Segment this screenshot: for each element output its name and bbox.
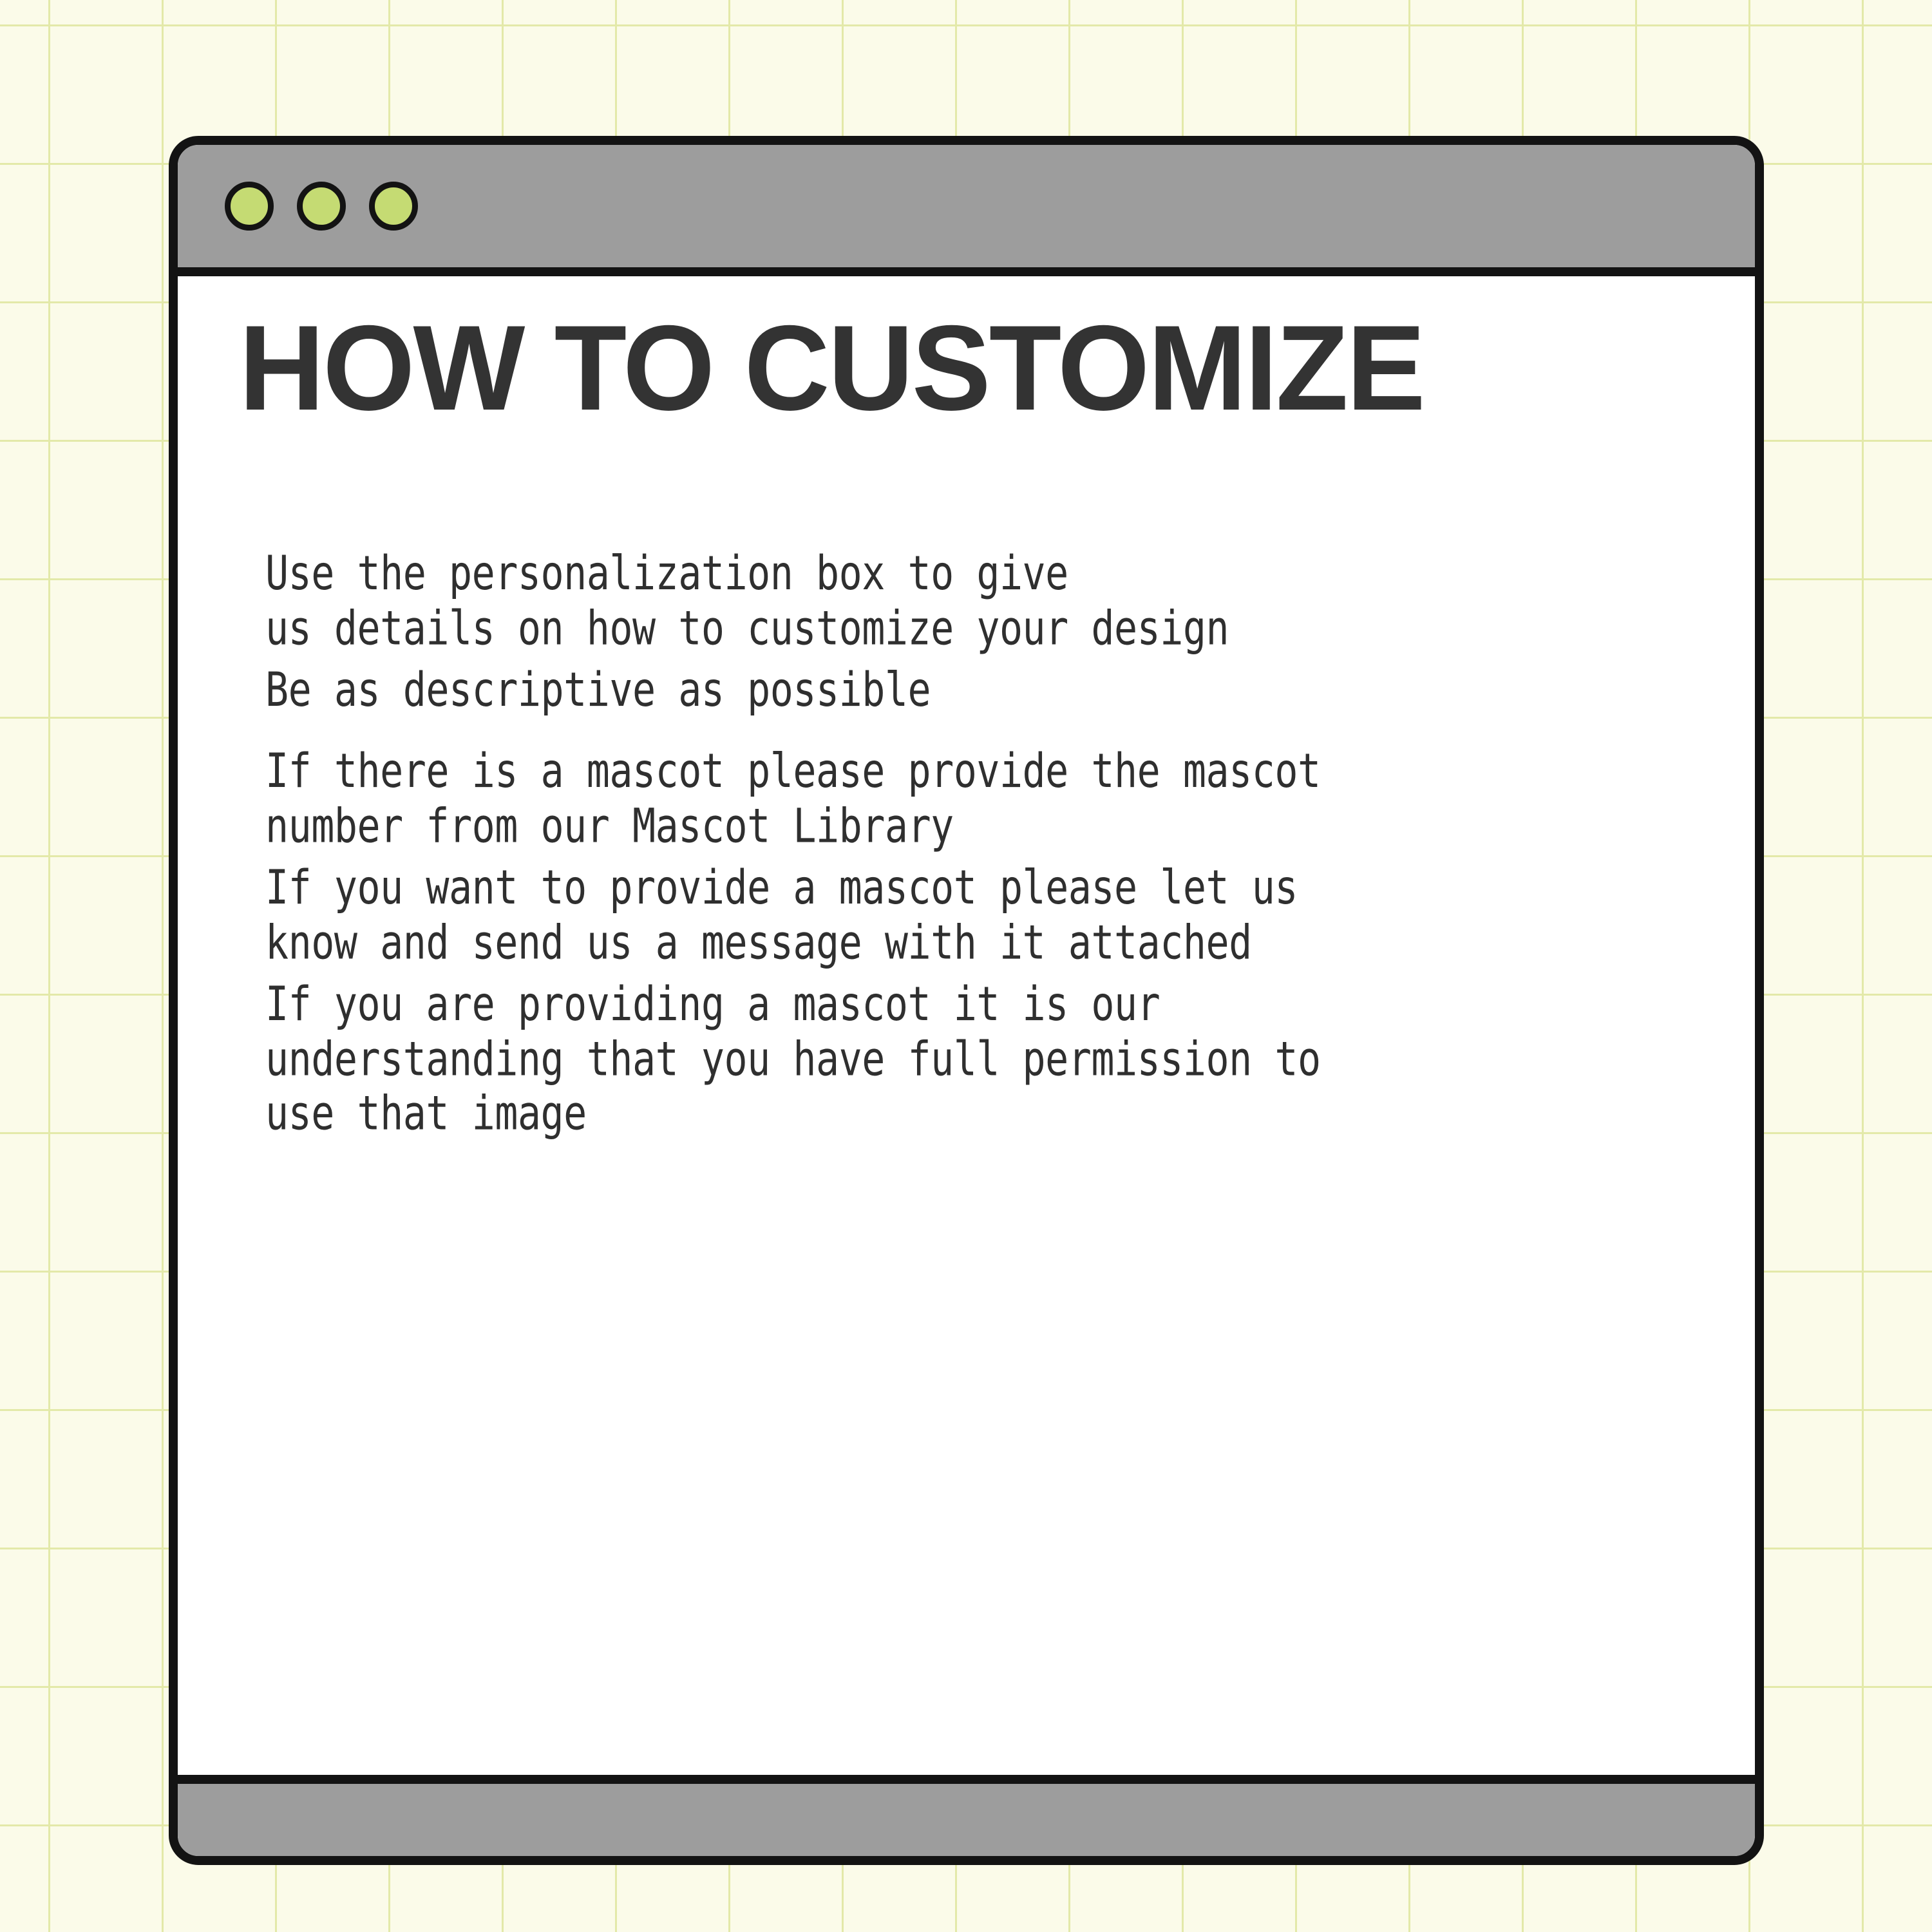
window-dot-2-icon[interactable] [297, 182, 346, 231]
instruction-paragraph-3: If there is a mascot please provide the … [265, 744, 1729, 854]
page-title: HOW TO CUSTOMIZE [239, 307, 1424, 428]
instruction-paragraph-2: Be as descriptive as possible [265, 663, 1729, 718]
window-dot-1-icon[interactable] [225, 182, 274, 231]
instructions-list: Use the personalization box to give us d… [265, 547, 1729, 1112]
window-dot-3-icon[interactable] [369, 182, 418, 231]
instruction-paragraph-4: If you want to provide a mascot please l… [265, 861, 1729, 971]
window-bottombar [178, 1775, 1755, 1856]
instruction-paragraph-5: If you are providing a mascot it is our … [265, 978, 1729, 1142]
window-titlebar [178, 145, 1755, 276]
instruction-paragraph-1: Use the personalization box to give us d… [265, 547, 1729, 656]
app-window: HOW TO CUSTOMIZE Use the personalization… [169, 136, 1764, 1865]
window-content: HOW TO CUSTOMIZE Use the personalization… [178, 276, 1755, 1775]
